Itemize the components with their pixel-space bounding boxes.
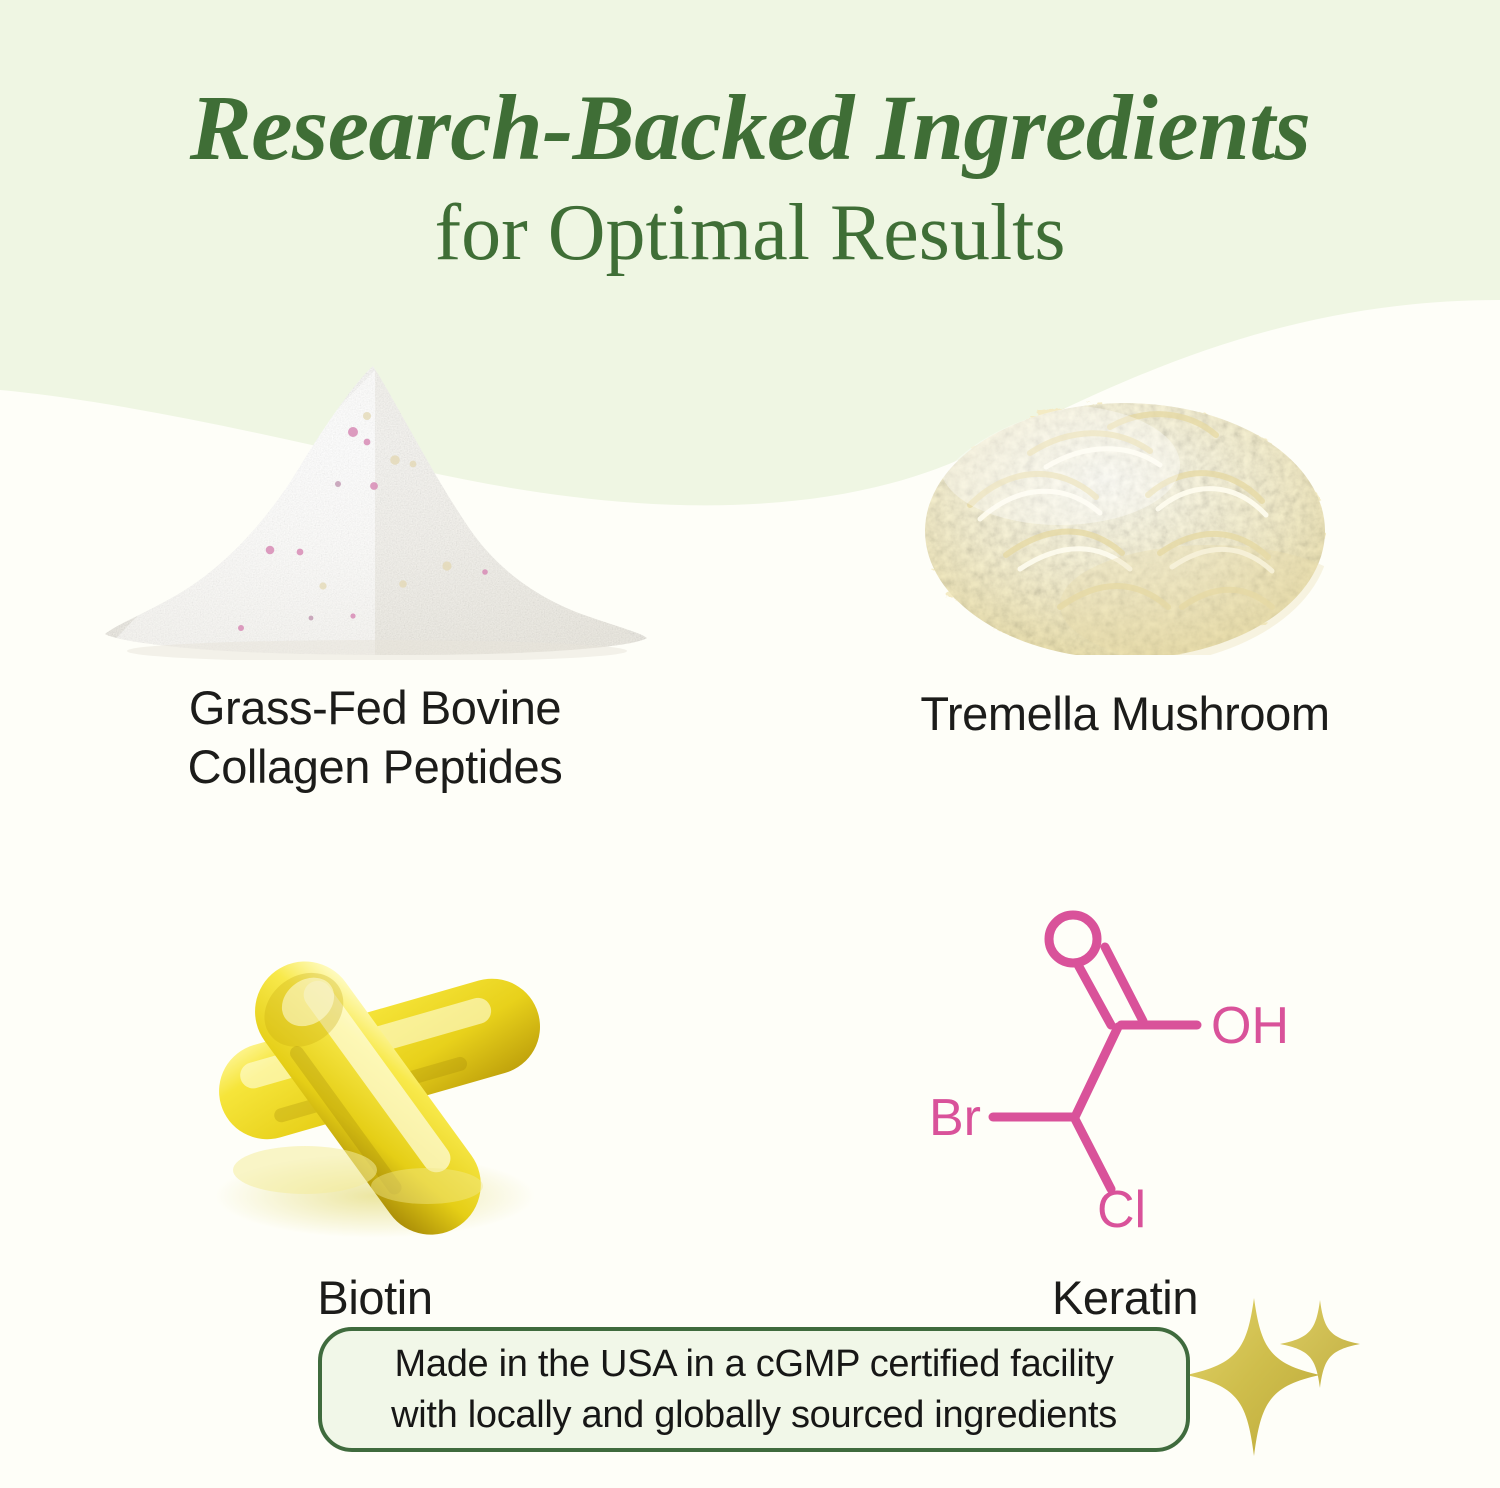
- ingredient-card-collagen: Grass-Fed Bovine Collagen Peptides: [0, 330, 750, 796]
- tremella-mushroom-image: [910, 355, 1340, 655]
- made-in-usa-badge-area: Made in the USA in a cGMP certified faci…: [0, 1300, 1500, 1478]
- ingredients-row-2: Biotin: [0, 914, 1500, 1327]
- ingredient-label-line1: Grass-Fed Bovine: [0, 678, 750, 737]
- chemical-structure-diagram: OH Br Cl: [915, 903, 1335, 1248]
- softgel-capsules-image: [165, 934, 585, 1244]
- page-title: Research-Backed Ingredients: [0, 82, 1500, 175]
- atom-label-oh: OH: [1211, 997, 1289, 1055]
- ingredients-grid: Grass-Fed Bovine Collagen Peptides: [0, 330, 1500, 1328]
- chem-bonds: [993, 947, 1197, 1189]
- badge-text-line2: with locally and globally sourced ingred…: [391, 1390, 1117, 1441]
- ingredient-card-biotin: Biotin: [0, 914, 750, 1327]
- ingredient-card-keratin: OH Br Cl Keratin: [750, 914, 1500, 1327]
- ingredient-label-collagen: Grass-Fed Bovine Collagen Peptides: [0, 678, 750, 796]
- tremella-art: [750, 330, 1500, 660]
- ingredient-label-tremella: Tremella Mushroom: [750, 684, 1500, 743]
- sparkle-large-icon: [1186, 1298, 1320, 1456]
- collagen-art: [0, 330, 750, 660]
- page-subtitle: for Optimal Results: [0, 191, 1500, 275]
- atom-label-cl: Cl: [1097, 1181, 1146, 1239]
- page-header: Research-Backed Ingredients for Optimal …: [0, 0, 1500, 275]
- sparkle-icon: [1160, 1278, 1390, 1488]
- keratin-art: OH Br Cl: [750, 914, 1500, 1244]
- ingredient-card-tremella: Tremella Mushroom: [750, 330, 1500, 796]
- ingredient-label-line1: Tremella Mushroom: [750, 684, 1500, 743]
- atom-oxygen-icon: [1049, 915, 1097, 963]
- ingredient-label-line2: Collagen Peptides: [0, 737, 750, 796]
- made-in-usa-badge: Made in the USA in a cGMP certified faci…: [318, 1327, 1190, 1452]
- ingredients-row-1: Grass-Fed Bovine Collagen Peptides: [0, 330, 1500, 796]
- biotin-art: [0, 914, 750, 1244]
- badge-text-line1: Made in the USA in a cGMP certified faci…: [395, 1339, 1114, 1390]
- collagen-powder-pile-image: [95, 360, 655, 660]
- atom-label-br: Br: [929, 1089, 981, 1147]
